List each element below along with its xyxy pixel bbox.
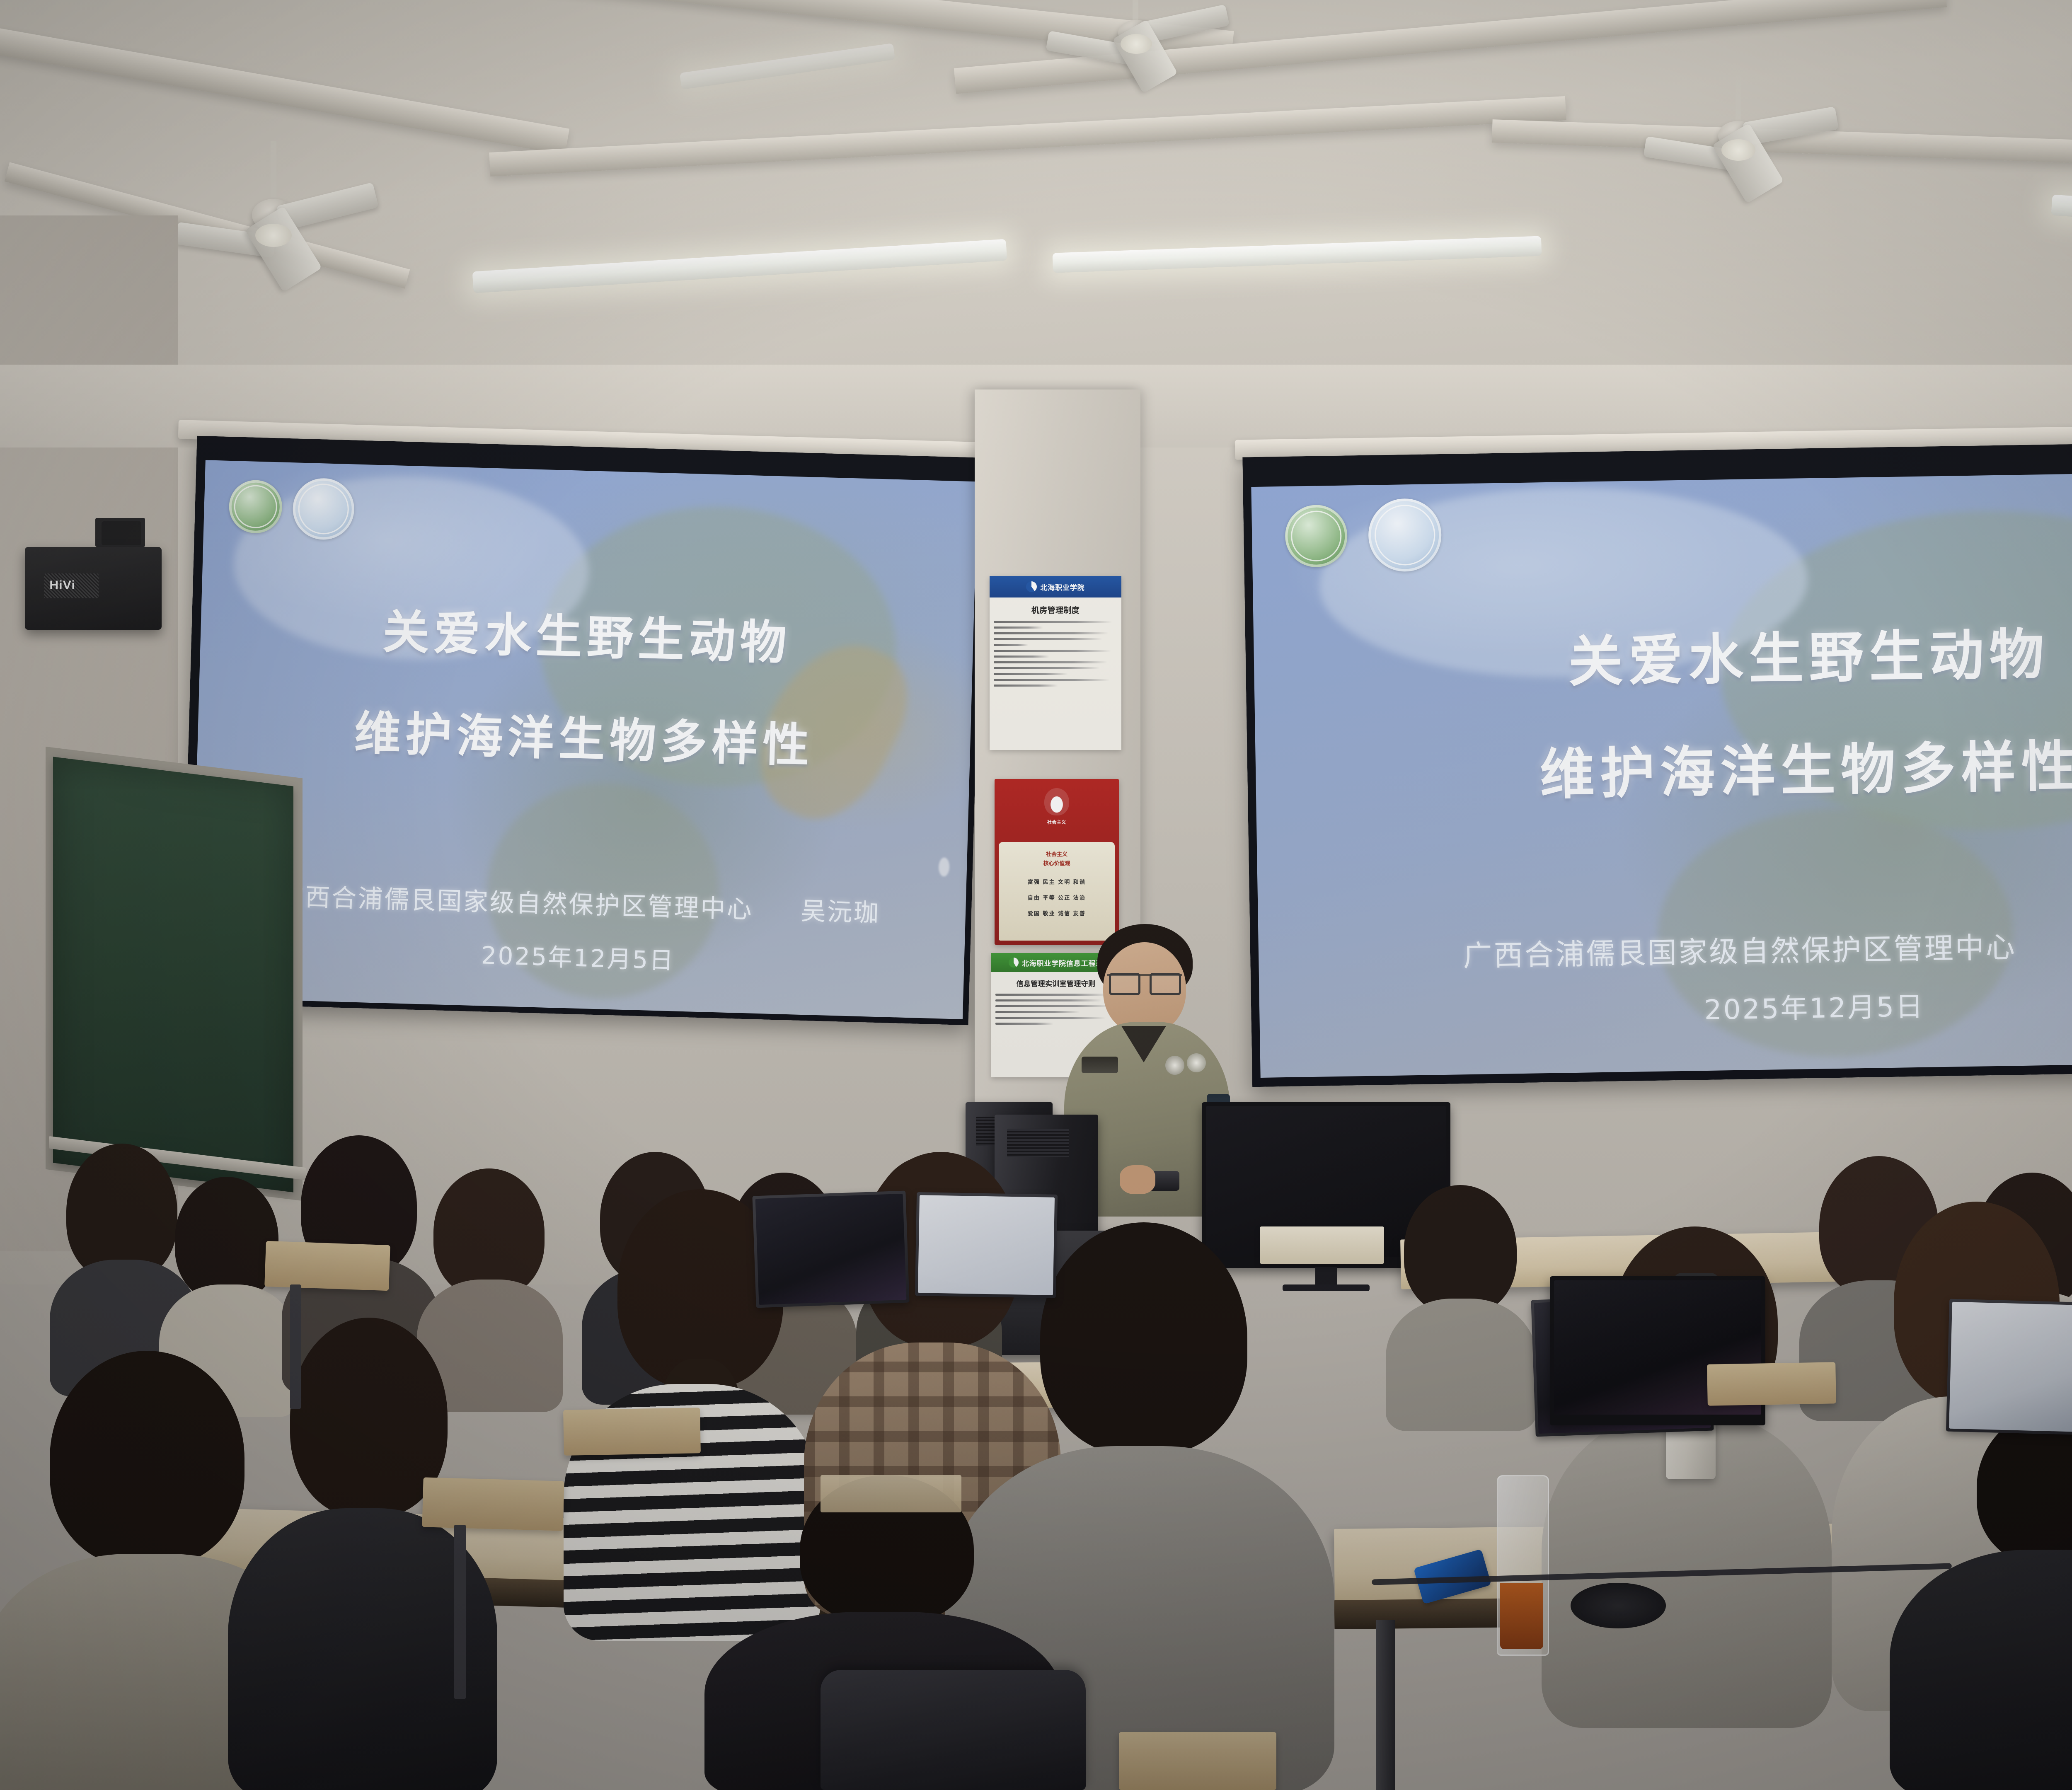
laptop-screen[interactable] [918,1195,1055,1295]
values-heading-1: 社会主义 [999,851,1115,858]
flame-icon [1044,788,1069,815]
backpack-foreground [821,1670,1086,1790]
ceiling-fan-2[interactable] [1053,0,1218,95]
ceiling-fan-3[interactable] [1649,75,1828,199]
speaker-brand-label: HiVi [49,578,75,593]
poster-header-text-blue: 北海职业学院 [1040,582,1084,592]
chair-right[interactable] [1707,1362,1836,1405]
college-logo-icon [1026,581,1037,592]
presenter-shoulder-patch-left [1082,1057,1118,1073]
laptop-right-2[interactable] [1946,1299,2072,1436]
poster-header-blue: 北海职业学院 [990,576,1121,597]
poster-body-blue [994,621,1117,690]
student-hair [175,1177,278,1301]
values-heading-2: 核心价值观 [999,860,1115,867]
student-black-jacket [1890,1550,2072,1790]
student-top [1386,1299,1537,1431]
classroom-photo: HiVi 关爱水生野生动物 维护海洋生物多样性 广西合浦儒艮国家级自然保护区管理… [0,0,2072,1790]
laptop-screen[interactable] [755,1194,907,1305]
values-row-3: 爱国 敬业 诚信 友善 [999,909,1115,917]
chalk-writing-desk [821,1475,961,1512]
dept-logo-icon [1009,958,1019,968]
student-right-black-jacket [1890,1409,2072,1790]
student-hair [1040,1222,1247,1454]
chalkboard [53,757,293,1192]
student-hair [50,1351,244,1566]
poster-red-cap-1: 社会主义 [1047,820,1066,825]
slide-presenter-org: 广西合浦儒艮国家级自然保护区管理中心 [278,882,753,924]
poster-title-blue: 机房管理制度 [990,604,1121,615]
values-row-2: 自由 平等 公正 法治 [999,893,1115,901]
ceiling-fan-1[interactable] [178,141,369,278]
desk-leg-right-1 [1376,1620,1395,1790]
left-screen-canvas: 关爱水生野生动物 维护海洋生物多样性 广西合浦儒艮国家级自然保护区管理中心 吴沅… [191,460,978,1019]
laptop-screen[interactable] [1949,1302,2072,1433]
student-back-8 [1392,1185,1529,1417]
cable-bundle [1571,1583,1666,1628]
presenter-badge-1 [1165,1056,1184,1075]
slide-presenter-org-right: 广西合浦儒艮国家级自然保护区管理中心 [1463,930,2017,973]
chair-left-1[interactable] [264,1241,390,1291]
chair-frame-left-1 [290,1284,301,1409]
chair-left-2[interactable] [422,1477,564,1531]
socialist-core-values-poster: 社会主义 社会主义 核心价值观 富强 民主 文明 和谐 自由 平等 公正 法治 … [995,779,1119,945]
presenter-glasses-lens-l [1109,973,1140,995]
chair-bottom-center[interactable] [1119,1732,1276,1790]
wall-camera [102,521,141,545]
presenter-hand [1120,1165,1155,1194]
poster-red-caption: 社会主义 [995,819,1119,825]
machine-room-rules-poster: 北海职业学院 机房管理制度 [990,576,1121,750]
screen-dot-left [939,857,950,877]
presenter-glasses-lens-r [1150,973,1181,995]
presenter-badge-2 [1187,1053,1206,1072]
slide-title-line2-right: 维护海洋生物多样性 [1255,718,2072,814]
chair-frame-left-2 [454,1525,466,1699]
slide-presenter-name: 吴沅珈 [801,897,881,928]
student-hair [433,1168,545,1297]
values-row-1: 富强 民主 文明 和谐 [999,878,1115,885]
wall-speaker: HiVi [25,547,162,630]
laptop-left-1[interactable] [752,1191,909,1308]
student-left-mid [232,1318,489,1790]
right-screen-canvas: 关爱水生野生动物 维护海洋生物多样性 广西合浦儒艮国家级自然保护区管理中心 吴沅… [1251,469,2072,1078]
student-hair [1404,1185,1517,1314]
chair-center[interactable] [563,1408,701,1456]
right-projection-screen: 关爱水生野生动物 维护海洋生物多样性 广西合浦儒艮国家级自然保护区管理中心 吴沅… [1242,440,2072,1087]
laptop-left-2[interactable] [915,1192,1058,1298]
amber-liquid [1500,1583,1543,1649]
